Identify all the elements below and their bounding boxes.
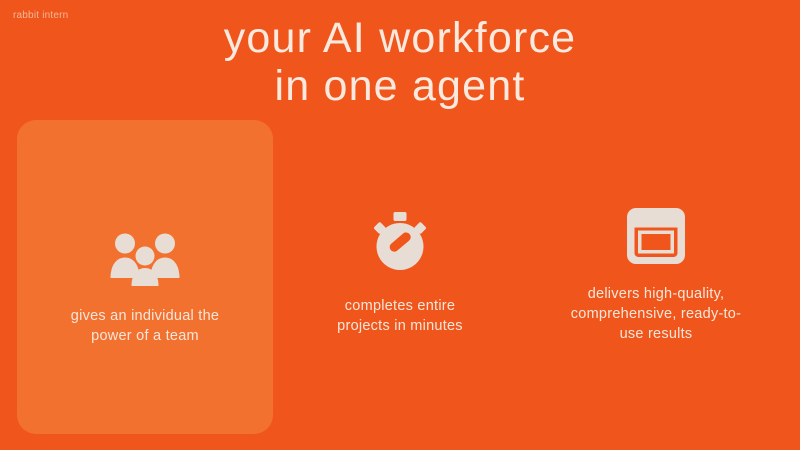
browser-window-icon <box>525 190 787 264</box>
feature-item-team: gives an individual the power of a team <box>27 212 263 346</box>
feature-item-quality: delivers high-quality, comprehensive, re… <box>525 190 787 344</box>
feature-item-speed: completes entire projects in minutes <box>300 202 500 336</box>
feature-caption: completes entire projects in minutes <box>300 296 500 336</box>
stopwatch-icon <box>300 202 500 276</box>
feature-caption: delivers high-quality, comprehensive, re… <box>525 284 787 344</box>
page-title: your AI workforce in one agent <box>0 14 800 110</box>
slide-canvas: rabbit intern your AI workforce in one a… <box>0 0 800 450</box>
people-group-icon <box>27 212 263 286</box>
feature-caption: gives an individual the power of a team <box>27 306 263 346</box>
